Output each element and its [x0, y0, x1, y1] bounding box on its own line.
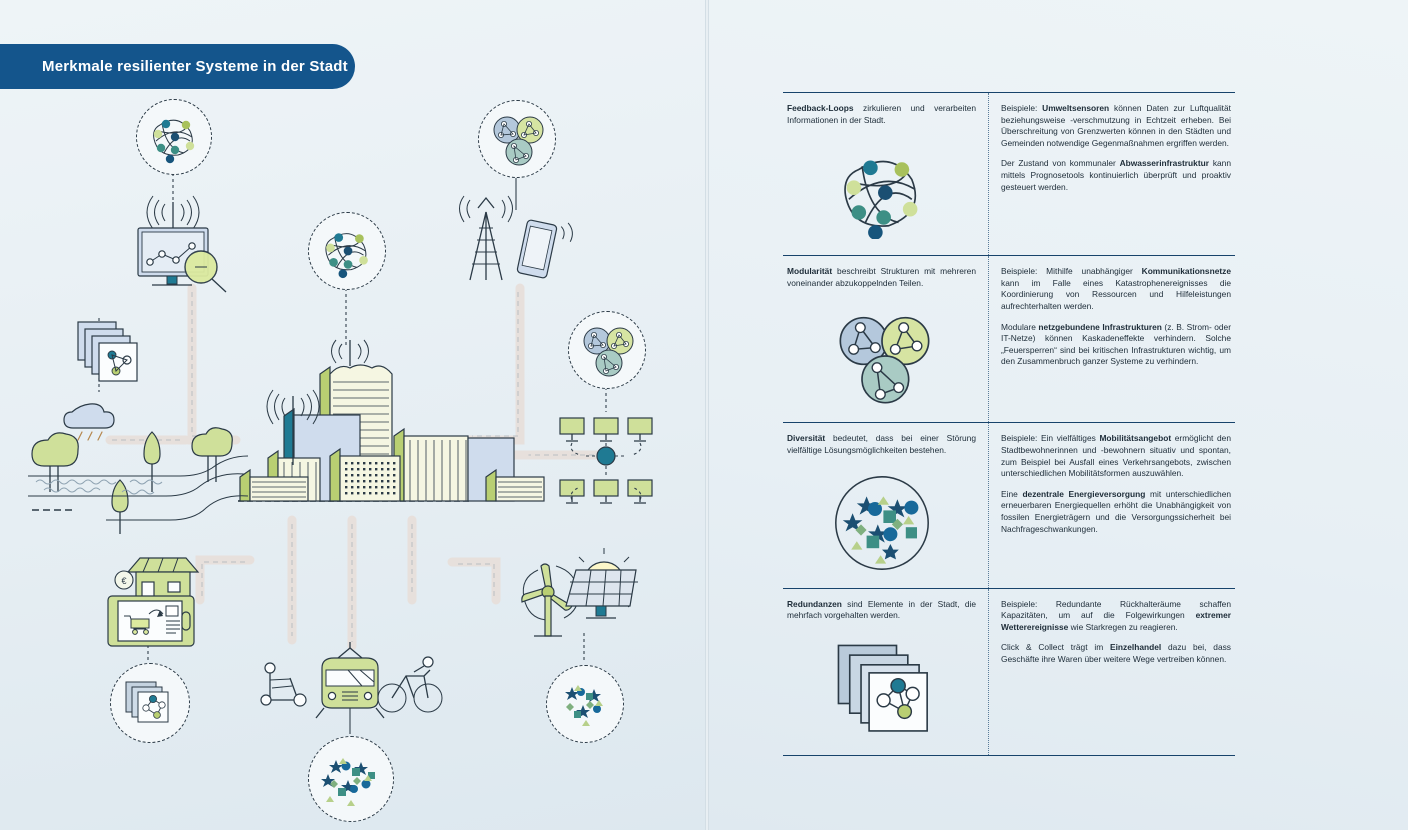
feedback-node-top-left [136, 99, 212, 175]
smartphone-icon [517, 219, 575, 278]
svg-text:€: € [121, 576, 126, 586]
stacked-cards-icon [828, 639, 936, 739]
wind-turbine-and-solar-panel [522, 548, 638, 636]
redundancy-node-left [110, 663, 190, 743]
definition-text: Modularität beschreibt Strukturen mit me… [787, 266, 976, 289]
network-graph-icon [316, 220, 378, 282]
definition-text: Feedback-Loops zirkulieren und verarbeit… [787, 103, 976, 126]
example-paragraph: Beispiele: Mithilfe unabhängiger Kommuni… [1001, 266, 1231, 312]
icon-redundanzen [787, 631, 976, 743]
definition-cell-diversitaet: Diversität bedeutet, dass bei einer Stör… [783, 423, 989, 587]
shop-and-tablet-icon: € [108, 558, 198, 646]
examples-cell-diversitaet: Beispiele: Ein vielfältiges Mobilitätsan… [989, 423, 1235, 587]
examples-cell-modularitaet: Beispiele: Mithilfe unabhängiger Kommuni… [989, 256, 1235, 422]
term-modularitaet: Modularität [787, 266, 832, 276]
table-row: Feedback-Loops zirkulieren und verarbeit… [783, 92, 1235, 255]
modular-clusters-icon [486, 108, 548, 170]
network-graph-icon [144, 107, 204, 167]
icon-modularitaet [787, 298, 976, 410]
network-graph-icon [832, 143, 932, 239]
modular-clusters-icon [576, 319, 638, 381]
definition-cell-modularitaet: Modularität beschreibt Strukturen mit me… [783, 256, 989, 422]
table-row: Redundanzen sind Elemente in der Stadt, … [783, 588, 1235, 756]
diversity-shapes-icon [554, 673, 616, 735]
term-feedback-loops: Feedback-Loops [787, 103, 854, 113]
diversity-node-bottom [308, 736, 394, 822]
example-paragraph: Beispiele: Umweltsensoren können Daten z… [1001, 103, 1231, 149]
solar-panel-icon [566, 548, 638, 618]
monitor-with-chart-and-magnifier [138, 196, 226, 292]
bicycle-icon [378, 657, 442, 712]
example-paragraph: Modulare netzgebundene Infrastrukturen (… [1001, 322, 1231, 368]
diversity-node-right [546, 665, 624, 743]
example-paragraph: Der Zustand von kommunaler Abwasserinfra… [1001, 158, 1231, 193]
city-skyline [238, 340, 544, 501]
table-row: Modularität beschreibt Strukturen mit me… [783, 255, 1235, 422]
icon-feedback-loops [787, 135, 976, 243]
term-redundanzen: Redundanzen [787, 599, 842, 609]
table-row: Diversität bedeutet, dass bei einer Stör… [783, 422, 1235, 587]
tram-icon [316, 642, 384, 718]
example-paragraph: Beispiele: Redundante Rückhalteräume sch… [1001, 599, 1231, 634]
stacked-cards-icon [120, 674, 180, 732]
example-paragraph: Beispiele: Ein vielfältiges Mobilitätsan… [1001, 433, 1231, 479]
definition-cell-feedback-loops: Feedback-Loops zirkulieren und verarbeit… [783, 93, 989, 255]
feedback-node-center [308, 212, 386, 290]
definition-cell-redundanzen: Redundanzen sind Elemente in der Stadt, … [783, 589, 989, 755]
distributed-monitors-network [560, 418, 652, 503]
diversity-shapes-icon [316, 744, 386, 814]
modularity-node-top [478, 100, 556, 178]
example-paragraph: Eine dezentrale Energieversorgung mit un… [1001, 489, 1231, 535]
icon-diversitaet [787, 466, 976, 576]
definition-text: Redundanzen sind Elemente in der Stadt, … [787, 599, 976, 622]
stacked-documents-icon [78, 322, 137, 381]
radio-tower-icon [460, 196, 513, 280]
definition-text: Diversität bedeutet, dass bei einer Stör… [787, 433, 976, 456]
wifi-waves-icon [147, 196, 199, 229]
resilience-features-table: Feedback-Loops zirkulieren und verarbeit… [783, 92, 1235, 756]
tower-antenna-icon [332, 340, 369, 366]
modular-clusters-icon [828, 306, 936, 406]
example-paragraph: Click & Collect trägt im Einzelhandel da… [1001, 642, 1231, 665]
river-and-trees-scene [28, 404, 248, 534]
diversity-shapes-icon [832, 474, 932, 572]
mobility-modes-icons [261, 642, 442, 718]
e-scooter-icon [261, 663, 306, 706]
modularity-node-right [568, 311, 646, 389]
examples-cell-redundanzen: Beispiele: Redundante Rückhalteräume sch… [989, 589, 1235, 755]
examples-cell-feedback-loops: Beispiele: Umweltsensoren können Daten z… [989, 93, 1235, 255]
term-diversitaet: Diversität [787, 433, 825, 443]
